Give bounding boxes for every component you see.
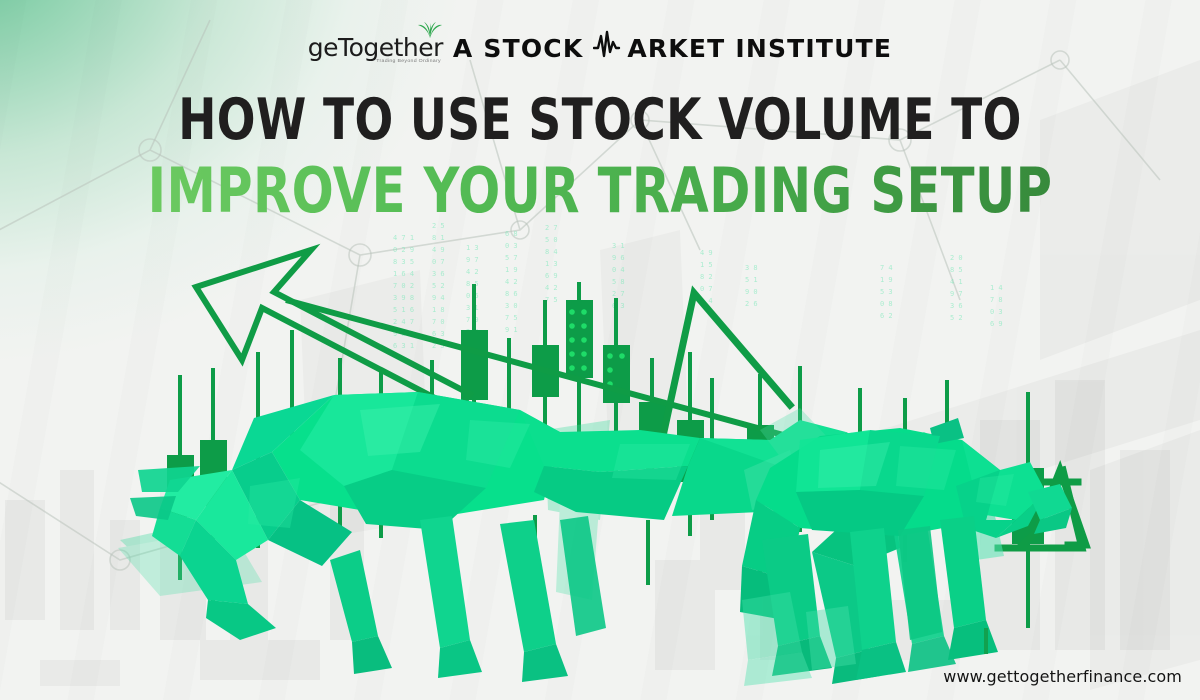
website-url[interactable]: www.gettogetherfinance.com (943, 667, 1182, 686)
wordmark-part2: ARKET INSTITUTE (627, 34, 892, 63)
getogether-logo[interactable]: geTogether Trading Beyond Ordinary (308, 35, 443, 61)
headline-line-1: HOW TO USE STOCK VOLUME TO (120, 92, 1080, 149)
poster-canvas: 4 7 10 2 98 3 5 1 6 47 0 23 9 8 5 1 62 4… (0, 0, 1200, 700)
leaf-sprout-icon (415, 22, 445, 43)
url-accent-bar (984, 628, 988, 654)
brand-header: geTogether Trading Beyond Ordinary A STO… (0, 30, 1200, 66)
logo-tagline: Trading Beyond Ordinary (376, 58, 441, 64)
wordmark-part1: A STOCK (453, 34, 593, 63)
pulse-m-icon (593, 30, 627, 66)
headline-line-2: IMPROVE YOUR TRADING SETUP (120, 160, 1080, 222)
institute-wordmark: A STOCK ARKET INSTITUTE (453, 30, 892, 66)
